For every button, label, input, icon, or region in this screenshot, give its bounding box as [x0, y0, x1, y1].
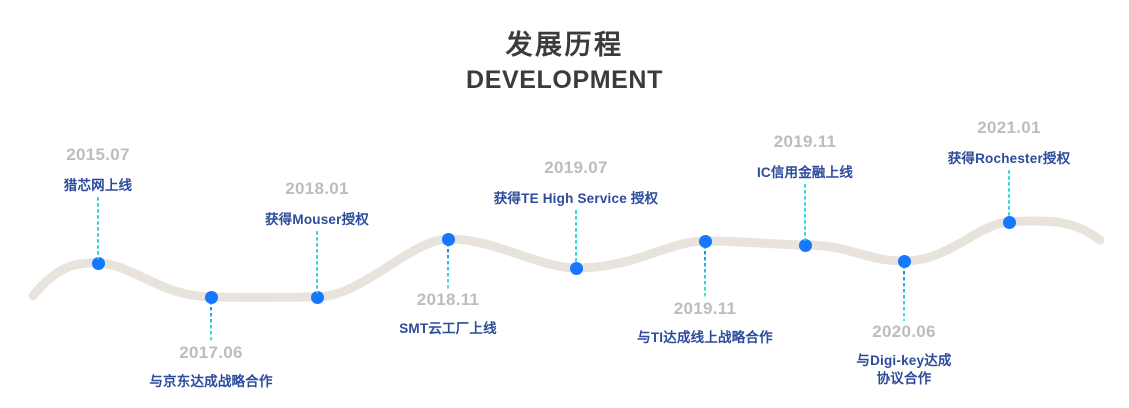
- milestone-connector-line: [316, 231, 318, 293]
- milestone-label-group: 2017.06与京东达成战略合作: [51, 344, 371, 391]
- milestone-connector-line: [575, 210, 577, 264]
- milestone-connector-line: [447, 243, 449, 289]
- milestone-connector-line: [704, 245, 706, 298]
- milestone-caption: 获得Mouser授权: [157, 211, 477, 229]
- milestone-label-group: 2021.01获得Rochester授权: [849, 119, 1129, 168]
- milestone-label-group: 2020.06与Digi-key达成 协议合作: [744, 323, 1064, 388]
- page-title: 发展历程 DEVELOPMENT: [0, 32, 1129, 93]
- milestone-connector-line: [97, 197, 99, 259]
- milestone-date: 2019.11: [545, 300, 865, 318]
- milestone-connector-line: [1008, 170, 1010, 218]
- milestone-connector-line: [804, 184, 806, 241]
- milestone-caption: 获得TE High Service 授权: [416, 190, 736, 208]
- title-chinese: 发展历程: [0, 32, 1129, 59]
- milestone-date: 2020.06: [744, 323, 1064, 341]
- wave-path: [33, 221, 1100, 298]
- milestone-date: 2015.07: [0, 146, 258, 164]
- milestone-date: 2017.06: [51, 344, 371, 362]
- milestone-connector-line: [903, 265, 905, 321]
- milestone-caption: 与Digi-key达成 协议合作: [744, 352, 1064, 388]
- development-timeline-infographic: 发展历程 DEVELOPMENT 2015.07猎芯网上线2017.06与京东达…: [0, 0, 1129, 408]
- milestone-connector-line: [210, 301, 212, 342]
- title-english: DEVELOPMENT: [0, 68, 1129, 93]
- milestone-date: 2021.01: [849, 119, 1129, 137]
- milestone-caption: 与京东达成战略合作: [51, 373, 371, 391]
- milestone-caption: 获得Rochester授权: [849, 150, 1129, 168]
